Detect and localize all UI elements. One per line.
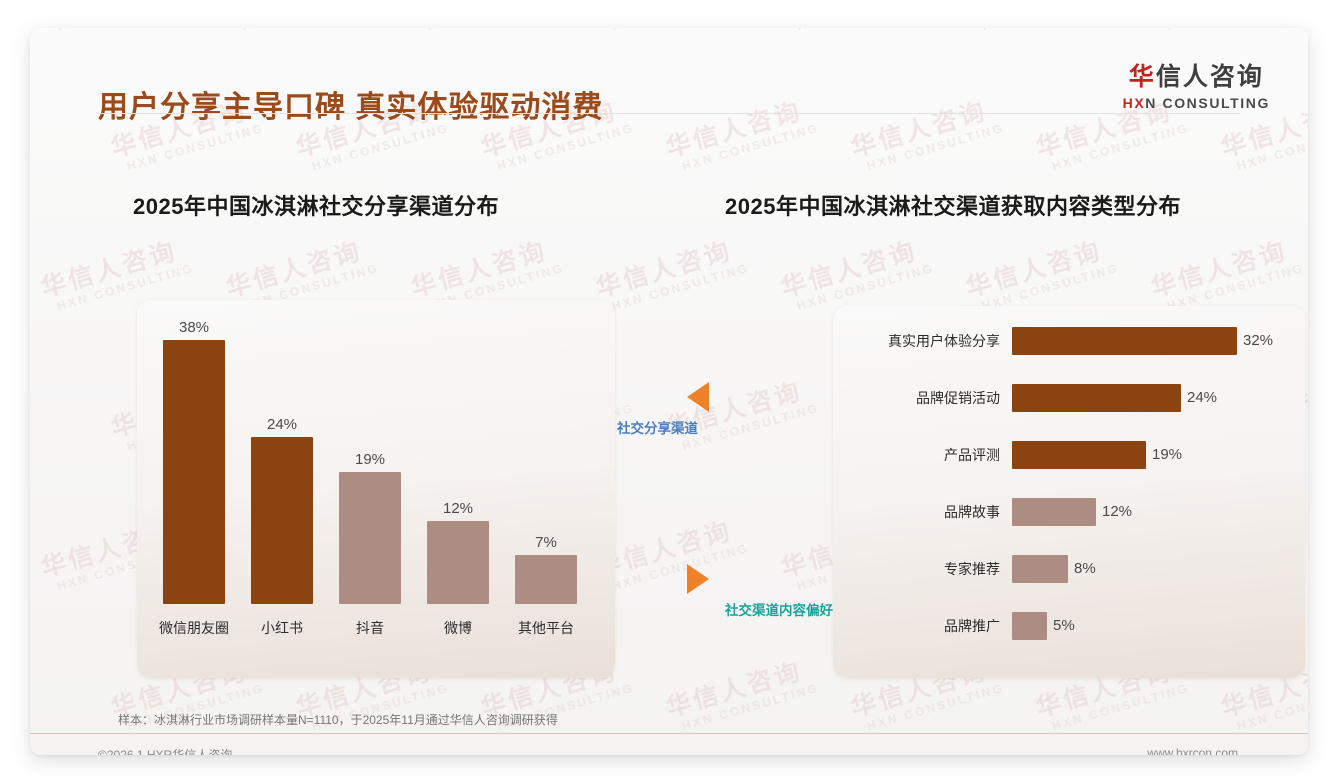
watermark-english: HXN CONSULTING [1050,681,1190,734]
bar-category-label: 品牌促销活动 [850,381,1000,415]
annotation-share-channel-label: 社交分享渠道 [617,417,709,437]
chart-title-left: 2025年中国冰淇淋社交分享渠道分布 [133,189,499,221]
bar-value-label: 8% [1074,552,1096,586]
bar-value-label: 7% [515,534,577,551]
watermark-chinese: 华信人咨询 [961,228,1117,305]
bar[interactable] [163,340,225,604]
logo-chinese-rest: 信人咨询 [1156,63,1264,91]
bar-row[interactable]: 品牌促销活动24% [850,381,1300,415]
bar-row[interactable]: 真实用户体验分享32% [850,324,1300,358]
watermark-chinese: 华信人咨询 [1146,228,1302,305]
bar-row[interactable]: 品牌推广5% [850,609,1300,643]
page-title: 用户分享主导口碑 真实体验驱动消费 [98,82,603,126]
watermark-english: HXN CONSULTING [610,261,750,314]
bar-column[interactable]: 38%微信朋友圈 [163,316,225,638]
logo-chinese-accent: 华 [1129,63,1156,91]
watermark-chinese: 华信人咨询 [36,228,192,305]
watermark-english: HXN CONSULTING [1235,681,1308,734]
footer-copyright: ©2026.1 HXR华信人咨询 [98,746,232,755]
bar-category-label: 其他平台 [499,618,593,638]
title-divider [98,113,1240,114]
bar[interactable] [515,555,577,604]
bar-category-label: 品牌故事 [850,495,1000,529]
watermark-tile: 华信人咨询HXN CONSULTING [1146,228,1305,316]
bar-value-label: 19% [339,451,401,468]
bar-category-label: 真实用户体验分享 [850,324,1000,358]
bar-value-label: 24% [1187,381,1217,415]
bar[interactable] [427,521,489,604]
bar-value-label: 19% [1152,438,1182,472]
bar[interactable] [1012,384,1181,412]
bar-category-label: 品牌推广 [850,609,1000,643]
logo-english-accent: HX [1123,95,1146,111]
bar-row[interactable]: 产品评测19% [850,438,1300,472]
watermark-tile: 华信人咨询HXN CONSULTING [661,648,820,736]
triangle-left-icon [687,382,709,412]
watermark-english: HXN CONSULTING [680,681,820,734]
watermark-chinese: 华信人咨询 [221,228,377,305]
watermark-chinese: 华信人咨询 [591,228,747,305]
bar[interactable] [251,437,313,604]
bar-value-label: 5% [1053,609,1075,643]
bar-column[interactable]: 7%其他平台 [515,316,577,638]
annotation-content-preference-label: 社交渠道内容偏好 [725,599,833,619]
bar-category-label: 微博 [411,618,505,638]
watermark-tile: 华信人咨询HXN CONSULTING [961,228,1120,316]
bar[interactable] [1012,498,1096,526]
slide-canvas: 华信人咨询HXN CONSULTING华信人咨询HXN CONSULTING华信… [30,28,1308,755]
triangle-right-icon [687,564,709,594]
footnote: 样本：冰淇淋行业市场调研样本量N=1110，于2025年11月通过华信人咨询调研… [118,711,558,728]
watermark-chinese: 华信人咨询 [776,228,932,305]
watermark-english: HXN CONSULTING [865,681,1005,734]
logo-chinese: 华信人咨询 [1123,64,1270,92]
bar-value-label: 24% [251,416,313,433]
bar-value-label: 12% [427,500,489,517]
chart-title-right: 2025年中国冰淇淋社交渠道获取内容类型分布 [725,189,1181,221]
watermark-tile: 华信人咨询HXN CONSULTING [661,368,820,456]
vertical-bar-chart: 38%微信朋友圈24%小红书19%抖音12%微博7%其他平台 [163,316,600,638]
bar-value-label: 32% [1243,324,1273,358]
brand-logo: 华信人咨询 HXN CONSULTING [1123,64,1270,111]
bar-column[interactable]: 19%抖音 [339,316,401,638]
watermark-chinese: 华信人咨询 [661,648,817,725]
bar[interactable] [1012,327,1237,355]
watermark-chinese: 华信人咨询 [406,228,562,305]
horizontal-bar-chart: 真实用户体验分享32%品牌促销活动24%产品评测19%品牌故事12%专家推荐8%… [850,324,1300,650]
bar-row[interactable]: 品牌故事12% [850,495,1300,529]
annotation-share-channel: 社交分享渠道 [687,382,709,437]
watermark-tile: 华信人咨询HXN CONSULTING [591,228,750,316]
logo-english: HXN CONSULTING [1123,95,1270,111]
slide-footer: ©2026.1 HXR华信人咨询 www.hxrcon.com [30,734,1308,755]
bar-category-label: 抖音 [323,618,417,638]
bar-column[interactable]: 24%小红书 [251,316,313,638]
bar-category-label: 专家推荐 [850,552,1000,586]
bar-row[interactable]: 专家推荐8% [850,552,1300,586]
watermark-tile: 华信人咨询HXN CONSULTING [776,228,935,316]
bar-value-label: 38% [163,319,225,336]
footer-website: www.hxrcon.com [1147,746,1238,755]
bar[interactable] [1012,441,1146,469]
bar-column[interactable]: 12%微博 [427,316,489,638]
bar-category-label: 微信朋友圈 [147,618,241,638]
bar[interactable] [1012,612,1047,640]
bar-value-label: 12% [1102,495,1132,529]
bar-category-label: 产品评测 [850,438,1000,472]
logo-english-rest: N CONSULTING [1145,95,1270,111]
bar-category-label: 小红书 [235,618,329,638]
bar[interactable] [339,472,401,604]
annotation-content-preference: 社交渠道内容偏好 [687,564,833,619]
slide-header: 用户分享主导口碑 真实体验驱动消费 [30,28,1308,133]
bar[interactable] [1012,555,1068,583]
